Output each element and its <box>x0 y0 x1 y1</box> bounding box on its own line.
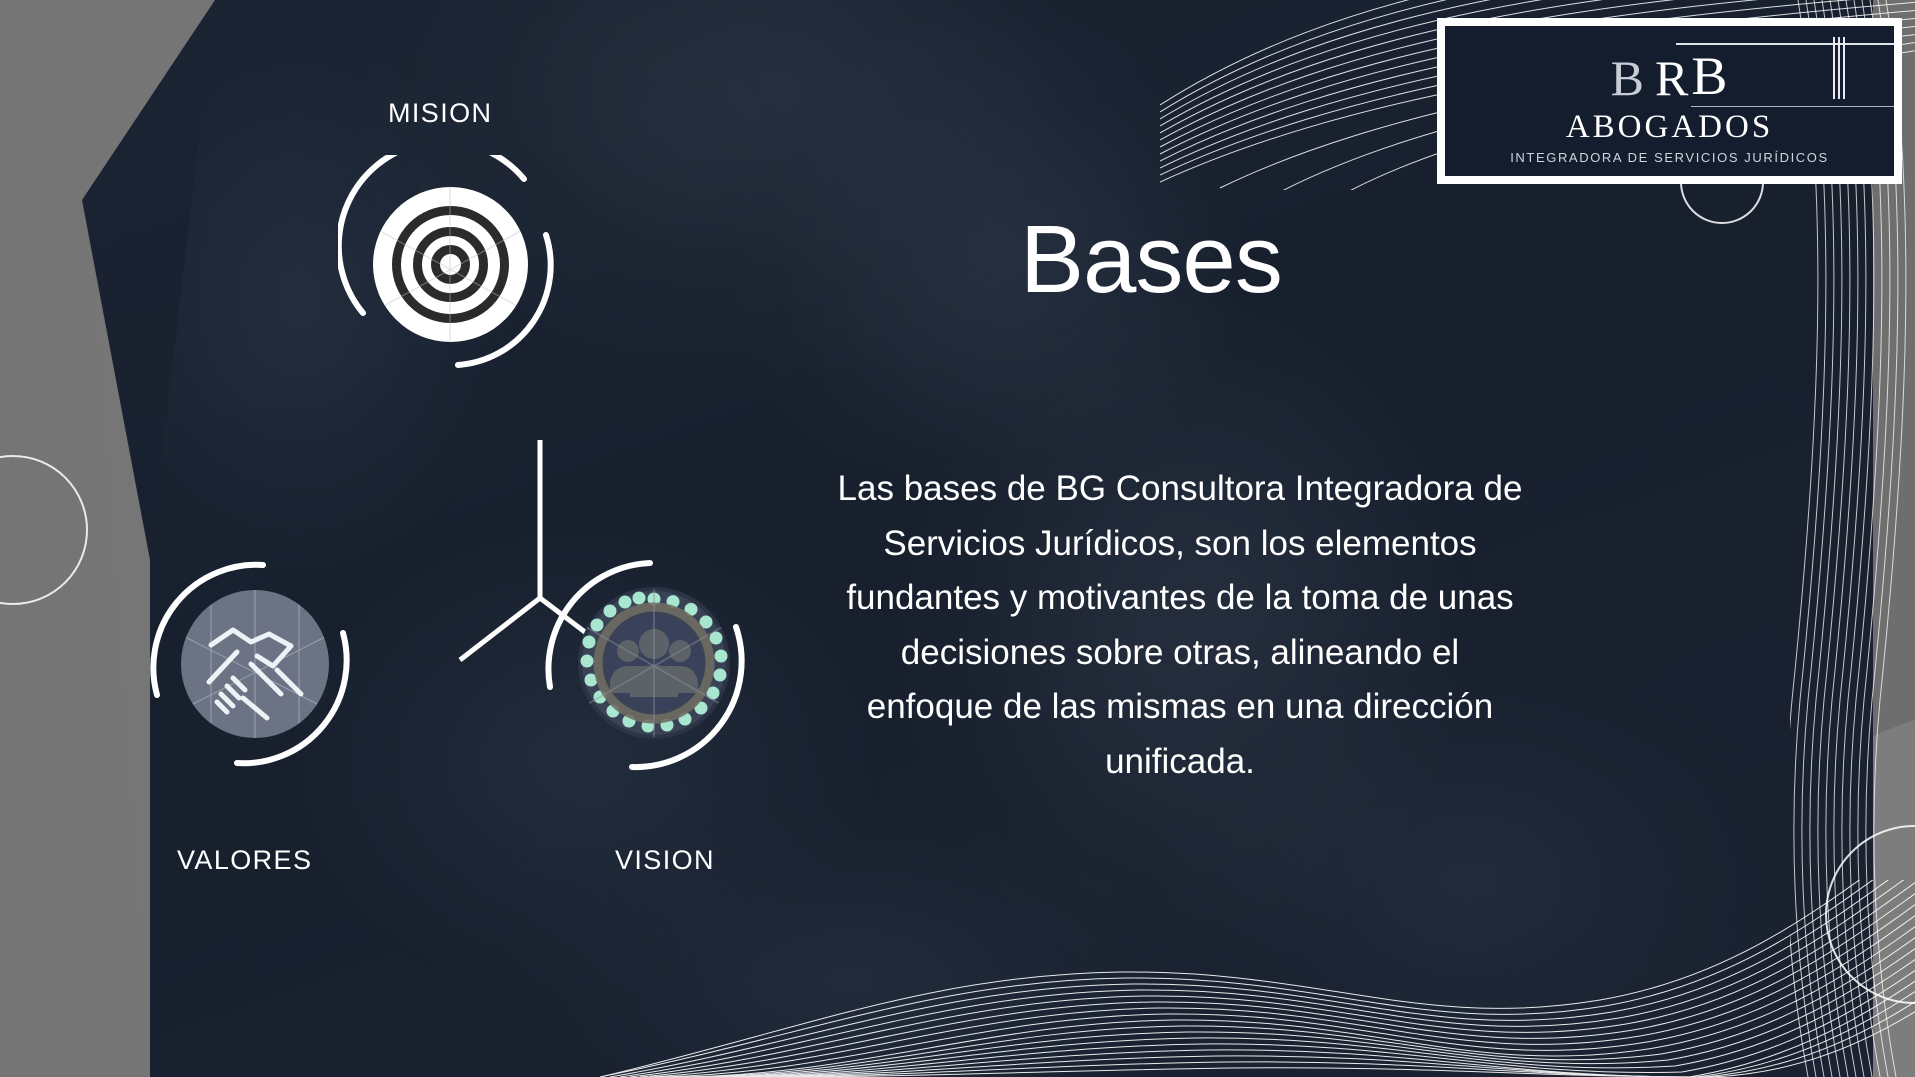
logo-vertical-bars <box>1833 37 1847 99</box>
logo-monogram: B R B <box>1611 37 1729 103</box>
node-label-mision: MISION <box>388 98 492 129</box>
logo-letter-b-left: B <box>1611 53 1645 103</box>
handshake-icon <box>181 590 329 738</box>
logo-letter-b-right: B <box>1691 49 1728 103</box>
diagram-node-valores[interactable]: VALORES <box>145 555 425 895</box>
logo-inner-panel: B R B ABOGADOS INTEGRADORA DE SERVICIOS … <box>1445 26 1894 176</box>
people-group-icon <box>578 587 730 739</box>
body-paragraph: Las bases de BG Consultora Integradora d… <box>835 462 1525 790</box>
target-icon <box>373 187 528 342</box>
diagram-node-mision[interactable]: MISION <box>340 85 640 385</box>
company-logo: B R B ABOGADOS INTEGRADORA DE SERVICIOS … <box>1437 18 1902 184</box>
logo-rule-bottom <box>1691 106 1894 107</box>
slide-root: B R B ABOGADOS INTEGRADORA DE SERVICIOS … <box>0 0 1915 1077</box>
page-title: Bases <box>1020 212 1490 308</box>
logo-company-name: ABOGADOS <box>1566 109 1773 146</box>
logo-letter-r: R <box>1655 53 1689 103</box>
logo-tagline: INTEGRADORA DE SERVICIOS JURÍDICOS <box>1510 150 1829 165</box>
logo-rule-top <box>1676 43 1894 45</box>
diagram-node-vision[interactable]: VISION <box>540 555 830 895</box>
node-label-vision: VISION <box>615 845 715 876</box>
node-label-valores: VALORES <box>177 845 312 876</box>
